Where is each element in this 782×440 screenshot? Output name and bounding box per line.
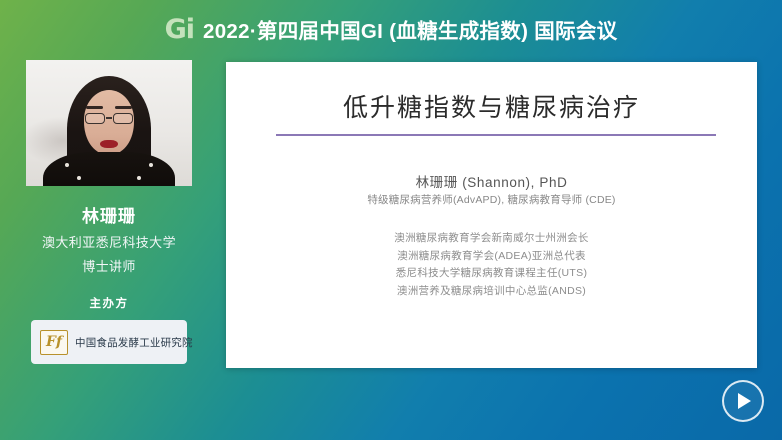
video-player-stage: Gi 2022·第四届中国GI (血糖生成指数) 国际会议 bbox=[0, 0, 782, 440]
glasses-icon bbox=[85, 112, 133, 124]
conference-header: Gi 2022·第四届中国GI (血糖生成指数) 国际会议 bbox=[0, 0, 782, 58]
title-underline-rule bbox=[276, 134, 716, 136]
sponsor-name: 中国食品发酵工业研究院 bbox=[75, 335, 193, 350]
glasses-lens-right bbox=[113, 113, 133, 124]
speaker-lips bbox=[100, 140, 118, 148]
organizer-label: 主办方 bbox=[90, 295, 129, 311]
play-button[interactable] bbox=[722, 380, 764, 422]
header-content: Gi 2022·第四届中国GI (血糖生成指数) 国际会议 bbox=[165, 14, 618, 44]
slide-presenter-name: 林珊珊 (Shannon), PhD bbox=[226, 171, 757, 191]
slide-role-item: 澳洲营养及糖尿病培训中心总监(ANDS) bbox=[226, 283, 757, 301]
presentation-slide: 低升糖指数与糖尿病治疗 林珊珊 (Shannon), PhD 特级糖尿病营养师(… bbox=[226, 62, 757, 368]
garment-stud bbox=[65, 163, 69, 167]
slide-role-item: 澳洲糖尿病教育学会新南威尔士州洲会长 bbox=[226, 230, 757, 248]
speaker-webcam-video[interactable] bbox=[26, 60, 192, 186]
garment-stud bbox=[137, 176, 141, 180]
glasses-bridge bbox=[106, 117, 112, 118]
speaker-sidebar: 林珊珊 澳大利亚悉尼科技大学 博士讲师 主办方 Ff 中国食品发酵工业研究院 bbox=[14, 60, 204, 364]
speaker-name: 林珊珊 bbox=[82, 202, 136, 227]
slide-role-item: 悉尼科技大学糖尿病教育课程主任(UTS) bbox=[226, 265, 757, 283]
garment-stud bbox=[149, 163, 153, 167]
slide-roles-list: 澳洲糖尿病教育学会新南威尔士州洲会长 澳洲糖尿病教育学会(ADEA)亚洲总代表 … bbox=[226, 230, 757, 300]
speaker-eyebrow-left bbox=[86, 106, 103, 109]
slide-title: 低升糖指数与糖尿病治疗 bbox=[226, 88, 757, 124]
glasses-lens-left bbox=[85, 113, 105, 124]
sponsor-logo-icon: Ff bbox=[40, 330, 68, 355]
speaker-eyebrow-right bbox=[115, 106, 132, 109]
conference-title: 2022·第四届中国GI (血糖生成指数) 国际会议 bbox=[203, 14, 617, 44]
sponsor-card: Ff 中国食品发酵工业研究院 bbox=[31, 320, 187, 364]
speaker-torso bbox=[43, 152, 175, 186]
garment-stud bbox=[77, 176, 81, 180]
gi-logo-icon: Gi bbox=[165, 16, 194, 43]
slide-role-item: 澳洲糖尿病教育学会(ADEA)亚洲总代表 bbox=[226, 248, 757, 266]
play-icon bbox=[738, 393, 751, 409]
speaker-affiliation: 澳大利亚悉尼科技大学 bbox=[42, 232, 176, 251]
slide-presenter-credentials: 特级糖尿病营养师(AdvAPD), 糖尿病教育导师 (CDE) bbox=[226, 192, 757, 207]
speaker-role: 博士讲师 bbox=[82, 256, 136, 275]
